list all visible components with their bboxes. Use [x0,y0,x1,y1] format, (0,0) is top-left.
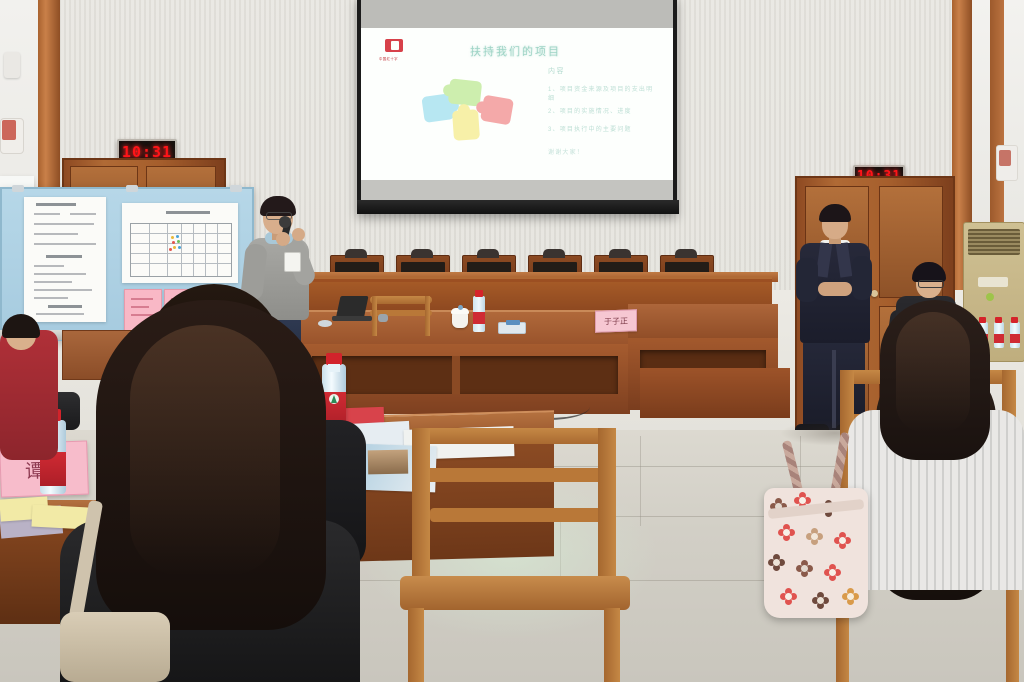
attendee-left-edge-body [0,330,58,460]
suited-man-right-arm [852,256,872,300]
projection-screen-blank-top [361,0,673,30]
laptop-base[interactable] [332,316,372,321]
slide-title: 扶持我们的项目 [470,43,650,59]
ac-control-panel[interactable] [978,277,1008,287]
clip-icon-1 [12,185,24,192]
teacup [452,312,468,328]
seated-man-glasses-icon [918,280,944,288]
puzzle-piece-yellow-icon [452,109,480,141]
presenter-left-hand [276,232,290,246]
clip-icon-3 [230,185,242,192]
small-object-icon [378,314,388,322]
tissue-box-lid [506,320,520,325]
slide-bullet-1: 1、项目资金来源及项目的支出明细 [548,86,658,104]
puzzle-piece-red-icon [480,95,514,126]
conference-table-divider [452,356,460,394]
conference-room-photo: 中国红十字 扶持我们的项目 内容 1、项目资金来源及项目的支出明细 2、项目的实… [0,0,1024,682]
ac-power-led-icon [986,293,994,301]
conference-table-right [628,304,778,338]
small-dish-icon [318,320,332,327]
clip-icon-2 [126,185,138,192]
door-knob-icon[interactable] [871,290,878,297]
suited-man-crossed-hands [818,282,852,296]
bottle-logo-icon [331,395,337,403]
water-bottle-shelf-3 [1010,322,1020,348]
slide-logo-icon [383,38,407,56]
slide-bullet-2: 2、项目的实施情况、进度 [548,108,658,117]
seated-woman-hair-highlight [896,312,970,432]
water-bottle-back-table [473,296,485,332]
wall-red-marker-right-icon [999,150,1011,166]
chair-at-back-desk[interactable] [370,296,432,354]
conference-table-shelf [312,356,618,394]
ac-vent-icon [968,229,1020,255]
flipchart-paper-left [24,197,106,322]
foreground-woman-1-hair-highlight [130,325,280,575]
wall-fixture-icon [4,52,20,78]
platform-riser [640,368,790,418]
projection-screen-bottom-bar [357,200,679,214]
presenter-name-badge [284,252,301,272]
beige-shoulder-bag[interactable] [60,612,170,682]
slide-logo-caption: 中国红十字 [379,56,411,61]
flipchart-paper-right [122,203,238,283]
progress-grid-table [130,223,232,277]
slide-footer: 谢谢大家！ [548,147,584,156]
presenter-right-hand [292,228,305,241]
microphone-head-icon[interactable] [279,216,291,228]
water-bottle-shelf-2 [994,322,1004,348]
slide-bullet-3: 3、项目执行中的主要问题 [548,126,658,135]
wood-trim-column-far-right [990,0,1004,250]
suited-man-left-arm [796,258,818,302]
chair-center-foreground[interactable] [398,428,648,682]
table-name-card: 于子正 [595,309,637,332]
slide-subtitle: 内容 [548,66,565,76]
wall-red-marker-icon [2,120,16,140]
